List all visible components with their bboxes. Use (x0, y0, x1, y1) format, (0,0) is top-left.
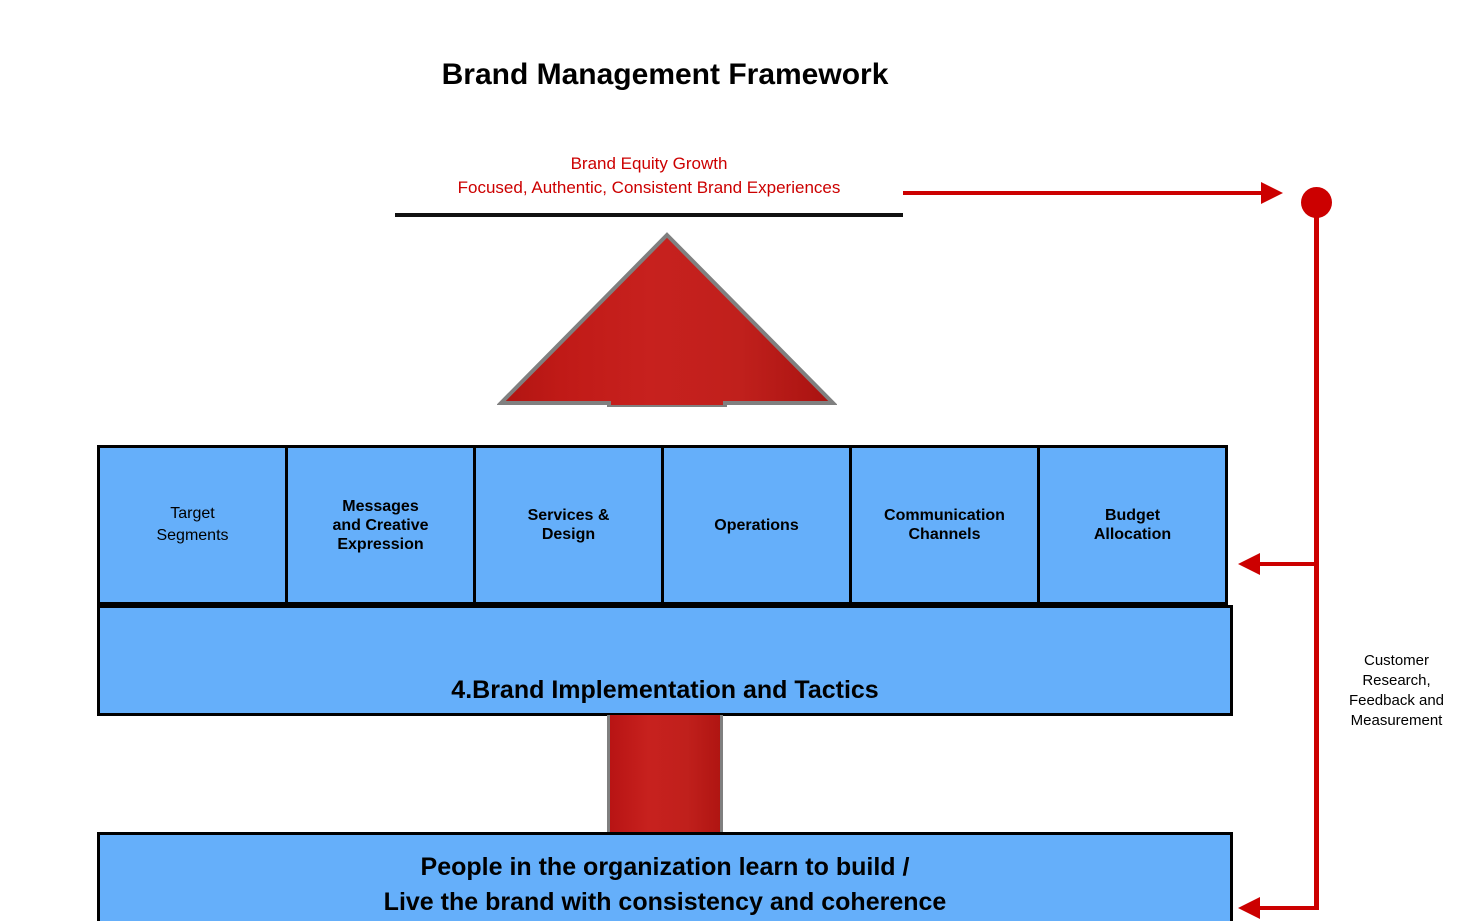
implementation-band-label: 4.Brand Implementation and Tactics (451, 676, 878, 713)
components-row: Target Segments Messages and Creative Ex… (97, 445, 1228, 605)
upward-arrow-icon (497, 231, 837, 407)
feedback-caption-line-2: Research, (1324, 671, 1469, 691)
implementation-band[interactable]: 4.Brand Implementation and Tactics (97, 605, 1233, 716)
arrowhead-left-icon (1238, 897, 1260, 919)
component-label: Budget Allocation (1094, 506, 1171, 544)
people-line-1: People in the organization learn to buil… (384, 850, 947, 885)
component-label: Operations (714, 516, 798, 535)
feedback-caption-line-4: Measurement (1324, 711, 1469, 731)
feedback-caption-line-3: Feedback and (1324, 691, 1469, 711)
component-box-services-design[interactable]: Services & Design (476, 448, 664, 602)
component-box-operations[interactable]: Operations (664, 448, 852, 602)
outcome-line-2: Focused, Authentic, Consistent Brand Exp… (395, 176, 903, 200)
diagram-canvas: Brand Management Framework Brand Equity … (0, 0, 1475, 921)
feedback-branch-middle (1258, 562, 1318, 566)
outcome-underline-rule (395, 213, 903, 217)
component-label: Communication Channels (884, 506, 1005, 544)
component-box-target-segments[interactable]: Target Segments (100, 448, 288, 602)
component-box-communication-channels[interactable]: Communication Channels (852, 448, 1040, 602)
component-label: Services & Design (528, 506, 610, 544)
feedback-loop-spine (1314, 200, 1319, 910)
outcome-line-1: Brand Equity Growth (395, 152, 903, 176)
outcome-text-block: Brand Equity Growth Focused, Authentic, … (395, 152, 903, 200)
arrowhead-right-icon (1261, 182, 1283, 204)
arrowhead-left-icon (1238, 553, 1260, 575)
feedback-loop-caption: Customer Research, Feedback and Measurem… (1324, 651, 1469, 731)
component-box-messages-creative-expression[interactable]: Messages and Creative Expression (288, 448, 476, 602)
feedback-caption-line-1: Customer (1324, 651, 1469, 671)
people-line-2: Live the brand with consistency and cohe… (384, 885, 947, 920)
feedback-branch-top (903, 191, 1263, 195)
component-box-budget-allocation[interactable]: Budget Allocation (1040, 448, 1225, 602)
page-title: Brand Management Framework (0, 58, 1330, 92)
component-label: Target Segments (156, 503, 228, 547)
feedback-branch-bottom (1258, 906, 1318, 910)
arrow-shaft-segment (607, 715, 723, 835)
component-label: Messages and Creative Expression (332, 497, 428, 554)
people-band-label: People in the organization learn to buil… (384, 850, 947, 920)
people-band[interactable]: People in the organization learn to buil… (97, 832, 1233, 921)
